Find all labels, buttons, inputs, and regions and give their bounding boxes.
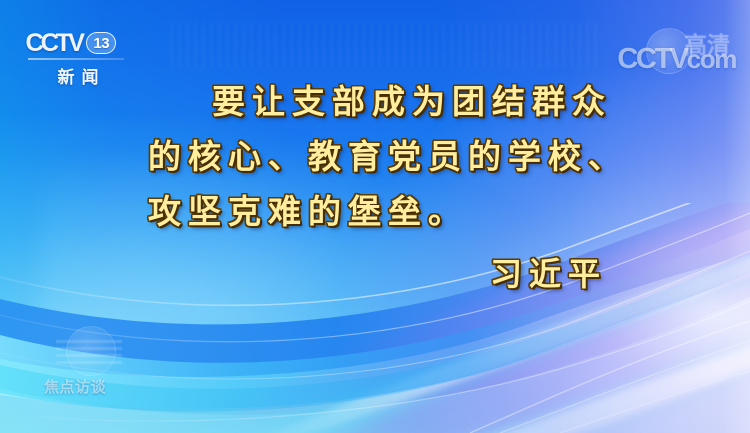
cctv-com-domain: com bbox=[687, 44, 736, 74]
cctv-com-brand: CCTV bbox=[617, 43, 686, 75]
quote-line-2: 的核心、教育党员的学校、 bbox=[0, 129, 750, 184]
cctv-com-text: CCTVcom bbox=[617, 45, 736, 74]
channel-logo-row: CCTV 13 bbox=[26, 30, 142, 56]
program-watermark: 焦点访谈 bbox=[44, 326, 164, 402]
quote-line-1: 要让支部成为团结群众 bbox=[0, 74, 750, 129]
quote-line-3: 攻坚克难的堡垒。 bbox=[0, 184, 750, 239]
cctv-com-watermark: 高清 CCTVcom bbox=[586, 34, 736, 74]
channel-number-badge: 13 bbox=[86, 32, 116, 54]
quote-block: 要让支部成为团结群众 的核心、教育党员的学校、 攻坚克难的堡垒。 bbox=[0, 74, 750, 239]
program-name-label: 焦点访谈 bbox=[44, 376, 164, 397]
program-logo-bars-icon bbox=[56, 338, 122, 364]
quote-attribution: 习近平 bbox=[0, 252, 750, 296]
broadcast-frame: CCTV 13 新闻 高清 CCTVcom 要让支部成为团结群众 的核心、教育党… bbox=[0, 0, 750, 433]
top-texture-band bbox=[170, 22, 600, 68]
cctv-wordmark: CCTV bbox=[25, 31, 81, 56]
logo-underline bbox=[28, 58, 124, 60]
